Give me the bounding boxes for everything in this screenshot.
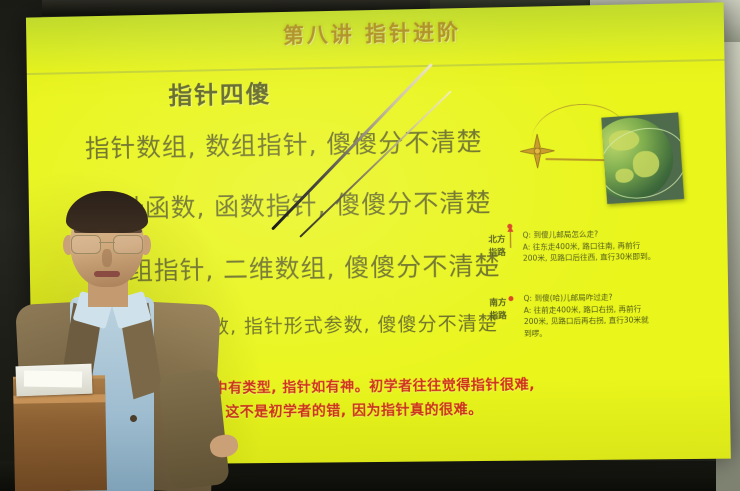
qa-north-line: 200米, 见路口后往西, 直行30米即到。 — [523, 250, 731, 265]
floor-shadow — [0, 461, 740, 491]
aphorism-line-2: 这不是初学者的错, 因为指针真的很难。 — [225, 396, 731, 422]
lecture-photo-scene: 第八讲 指针进阶 指针四傻 指针数组, 数组指针, 傻傻分不清楚 指针函数, 函… — [0, 0, 740, 491]
verse-line-4: 数组形式参数, 指针形式参数, 傻傻分不清楚 — [111, 308, 520, 340]
projected-slide: 第八讲 指针进阶 指针四傻 指针数组, 数组指针, 傻傻分不清楚 指针函数, 函… — [26, 2, 731, 465]
globe-image — [601, 112, 684, 204]
qa-block-north: 北方 指路 Q: 到傻儿邮局怎么走? A: 往东走400米, 路口往南, 再前行… — [488, 226, 731, 265]
slide-heading: 指针四傻 — [27, 71, 415, 113]
aphorism-line-1: 心中有类型, 指针如有神。初学者往往觉得指针很难, — [199, 372, 721, 398]
qa-tag-south: 南方 指路 — [489, 297, 516, 323]
verse-line-3: 数组指针, 二维数组, 傻傻分不清楚 — [102, 246, 511, 288]
qa-block-south: 南方 指路 Q: 到傻(哈)儿邮局咋过走? A: 往前走400米, 路口右拐, … — [489, 290, 731, 340]
qa-tag-north: 北方 指路 — [488, 234, 515, 260]
verse-line-1: 指针数组, 数组指针, 傻傻分不清楚 — [85, 122, 493, 165]
